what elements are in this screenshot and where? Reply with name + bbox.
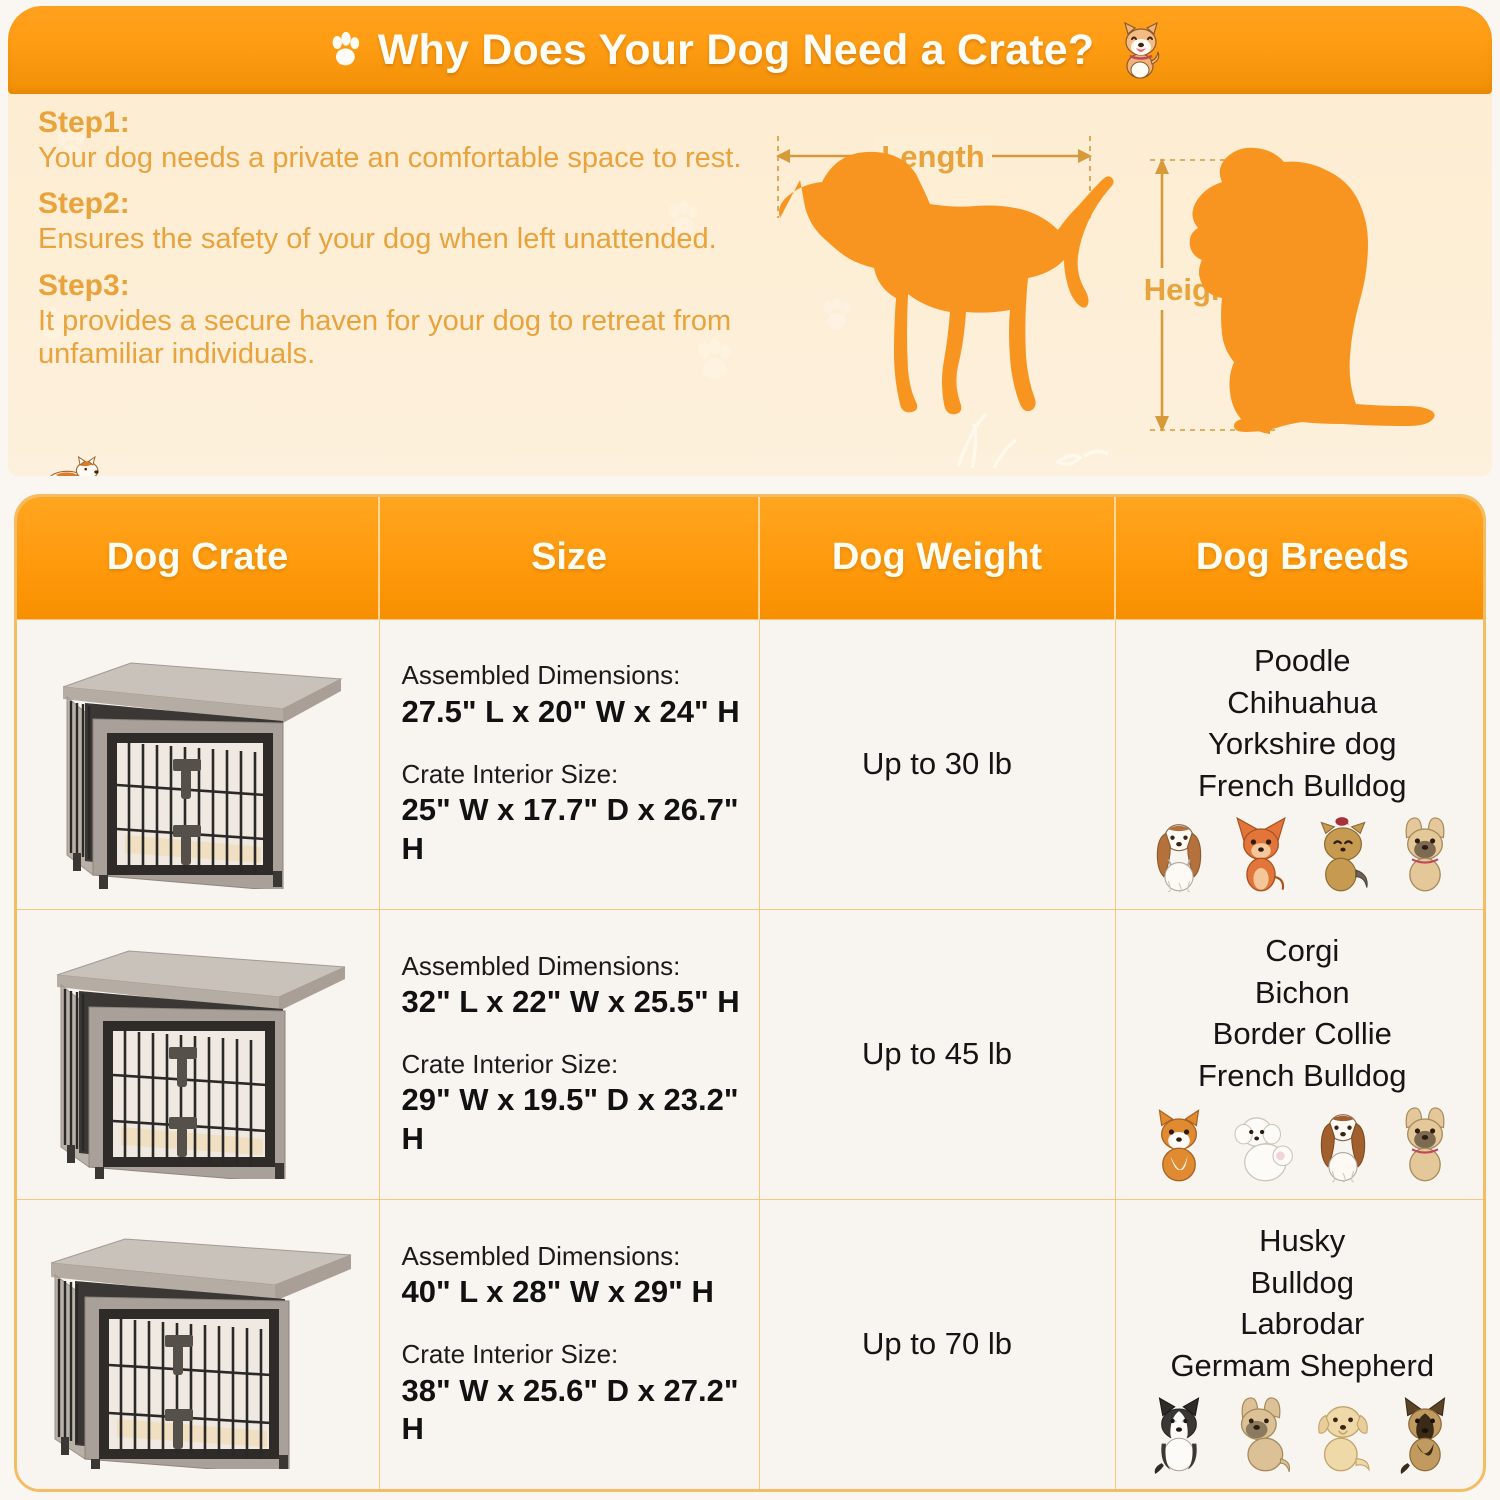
intro-panel: Why Does Your Dog Need a Crate? [8,6,1492,476]
crate-interior-label: Crate Interior Size: [402,1338,751,1371]
breed-name: Bichon [1124,972,1482,1014]
crate-interior-value: 29" W x 19.5" D x 23.2" H [402,1081,751,1159]
breed-name: French Bulldog [1124,1055,1482,1097]
step-heading: Step1: [38,106,778,140]
step-body: Ensures the safety of your dog when left… [38,223,778,256]
step-body: It provides a secure haven for your dog … [38,305,778,372]
paw-icon [326,30,366,70]
bichon-icon [1226,1106,1296,1184]
breed-name: Corgi [1124,930,1482,972]
size-cell: Assembled Dimensions: 27.5" L x 20" W x … [379,619,759,909]
bulldog-icon [1226,1396,1296,1474]
crate-interior-label: Crate Interior Size: [402,1048,751,1081]
column-header-dog-breeds: Dog Breeds [1115,497,1486,619]
crate-interior-label: Crate Interior Size: [402,758,751,791]
crate-image-cell [17,619,379,909]
breed-name: Bulldog [1124,1262,1482,1304]
dog-weight-cell: Up to 70 lb [759,1199,1115,1489]
crate-image-cell [17,1199,379,1489]
dog-weight-cell: Up to 30 lb [759,619,1115,909]
yorkshire-terrier-icon [1308,816,1378,894]
crate-interior-value: 25" W x 17.7" D x 26.7" H [402,791,751,869]
dog-breeds-cell: Poodle Chihuahua Yorkshire dog French Bu… [1115,619,1486,909]
running-corgi-icon [34,452,106,476]
table-row: Assembled Dimensions: 27.5" L x 20" W x … [17,619,1486,909]
labrador-icon [1308,1396,1378,1474]
table-row: Assembled Dimensions: 32" L x 22" W x 25… [17,909,1486,1199]
chihuahua-icon [1226,816,1296,894]
breed-name: Yorkshire dog [1124,723,1482,765]
table-row: Assembled Dimensions: 40" L x 28" W x 29… [17,1199,1486,1489]
french-bulldog-icon [1390,1106,1460,1184]
cavalier-spaniel-icon [1308,1106,1378,1184]
size-cell: Assembled Dimensions: 32" L x 22" W x 25… [379,909,759,1199]
crate-size-table: Dog Crate Size Dog Weight Dog Breeds [14,494,1486,1492]
breed-name: Poodle [1124,640,1482,682]
header-banner: Why Does Your Dog Need a Crate? [8,6,1492,94]
breed-name: Labrodar [1124,1303,1482,1345]
step-body: Your dog needs a private an comfortable … [38,142,778,175]
dog-weight-cell: Up to 45 lb [759,909,1115,1199]
breed-name: French Bulldog [1124,765,1482,807]
assembled-dimensions-label: Assembled Dimensions: [402,1240,751,1273]
step-heading: Step3: [38,269,778,303]
size-cell: Assembled Dimensions: 40" L x 28" W x 29… [379,1199,759,1489]
french-bulldog-icon [1390,816,1460,894]
breed-name: Chihuahua [1124,682,1482,724]
corgi-icon [1144,1106,1214,1184]
breed-name: Husky [1124,1220,1482,1262]
assembled-dimensions-label: Assembled Dimensions: [402,950,751,983]
sitting-dog-silhouette [1190,148,1435,434]
crate-interior-value: 38" W x 25.6" D x 27.2" H [402,1372,751,1450]
crate-image-cell [17,909,379,1199]
steps-list: Step1: Your dog needs a private an comfo… [38,106,778,371]
dog-measurement-diagram: Length Height [758,118,1492,470]
dog-crate-furniture-image [33,639,363,889]
column-header-dog-weight: Dog Weight [759,497,1115,619]
dog-crate-furniture-image [33,929,363,1179]
assembled-dimensions-value: 27.5" L x 20" W x 24" H [402,693,751,732]
cavalier-spaniel-icon [1144,816,1214,894]
standing-dog-silhouette [779,152,1114,414]
infographic-page: Why Does Your Dog Need a Crate? [0,0,1500,1500]
husky-icon [1144,1396,1214,1474]
dog-breeds-cell: Corgi Bichon Border Collie French Bulldo… [1115,909,1486,1199]
assembled-dimensions-value: 40" L x 28" W x 29" H [402,1273,751,1312]
grass-decor [958,414,1108,468]
assembled-dimensions-label: Assembled Dimensions: [402,659,751,692]
breed-name: Border Collie [1124,1013,1482,1055]
german-shepherd-icon [1390,1396,1460,1474]
column-header-dog-crate: Dog Crate [17,497,379,619]
column-header-size: Size [379,497,759,619]
breed-name: Germam Shepherd [1124,1345,1482,1387]
shiba-dog-icon [1110,18,1174,82]
table-header-row: Dog Crate Size Dog Weight Dog Breeds [17,497,1486,619]
dog-crate-furniture-image [33,1219,363,1469]
assembled-dimensions-value: 32" L x 22" W x 25.5" H [402,983,751,1022]
dog-breeds-cell: Husky Bulldog Labrodar Germam Shepherd [1115,1199,1486,1489]
step-heading: Step2: [38,187,778,221]
page-title: Why Does Your Dog Need a Crate? [378,26,1095,75]
